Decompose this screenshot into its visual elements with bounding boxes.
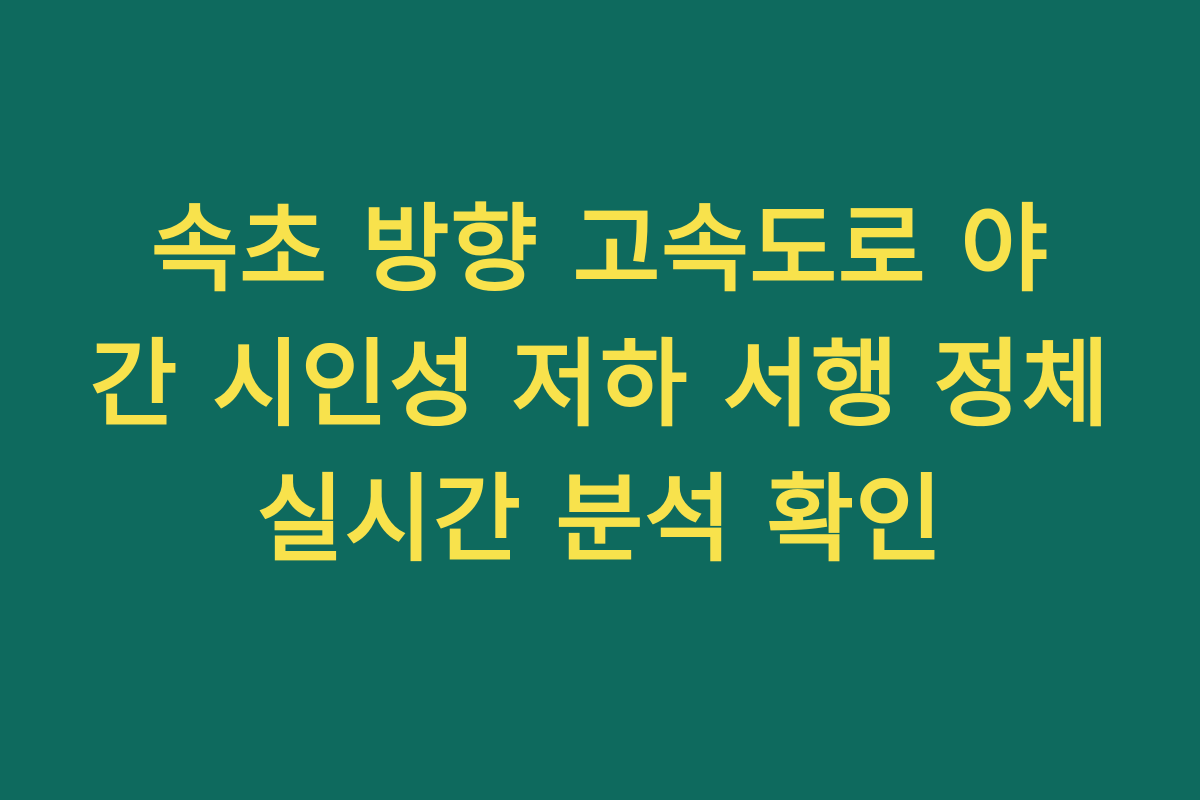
headline-line-2: 간 시인성 저하 서행 정체 bbox=[56, 318, 1144, 453]
headline-line-1: 속초 방향 고속도로 야 bbox=[56, 183, 1144, 318]
headline-block: 속초 방향 고속도로 야 간 시인성 저하 서행 정체 실시간 분석 확인 bbox=[40, 183, 1160, 588]
poster-canvas: 속초 방향 고속도로 야 간 시인성 저하 서행 정체 실시간 분석 확인 bbox=[0, 0, 1200, 800]
headline-line-3: 실시간 분석 확인 bbox=[56, 453, 1144, 588]
